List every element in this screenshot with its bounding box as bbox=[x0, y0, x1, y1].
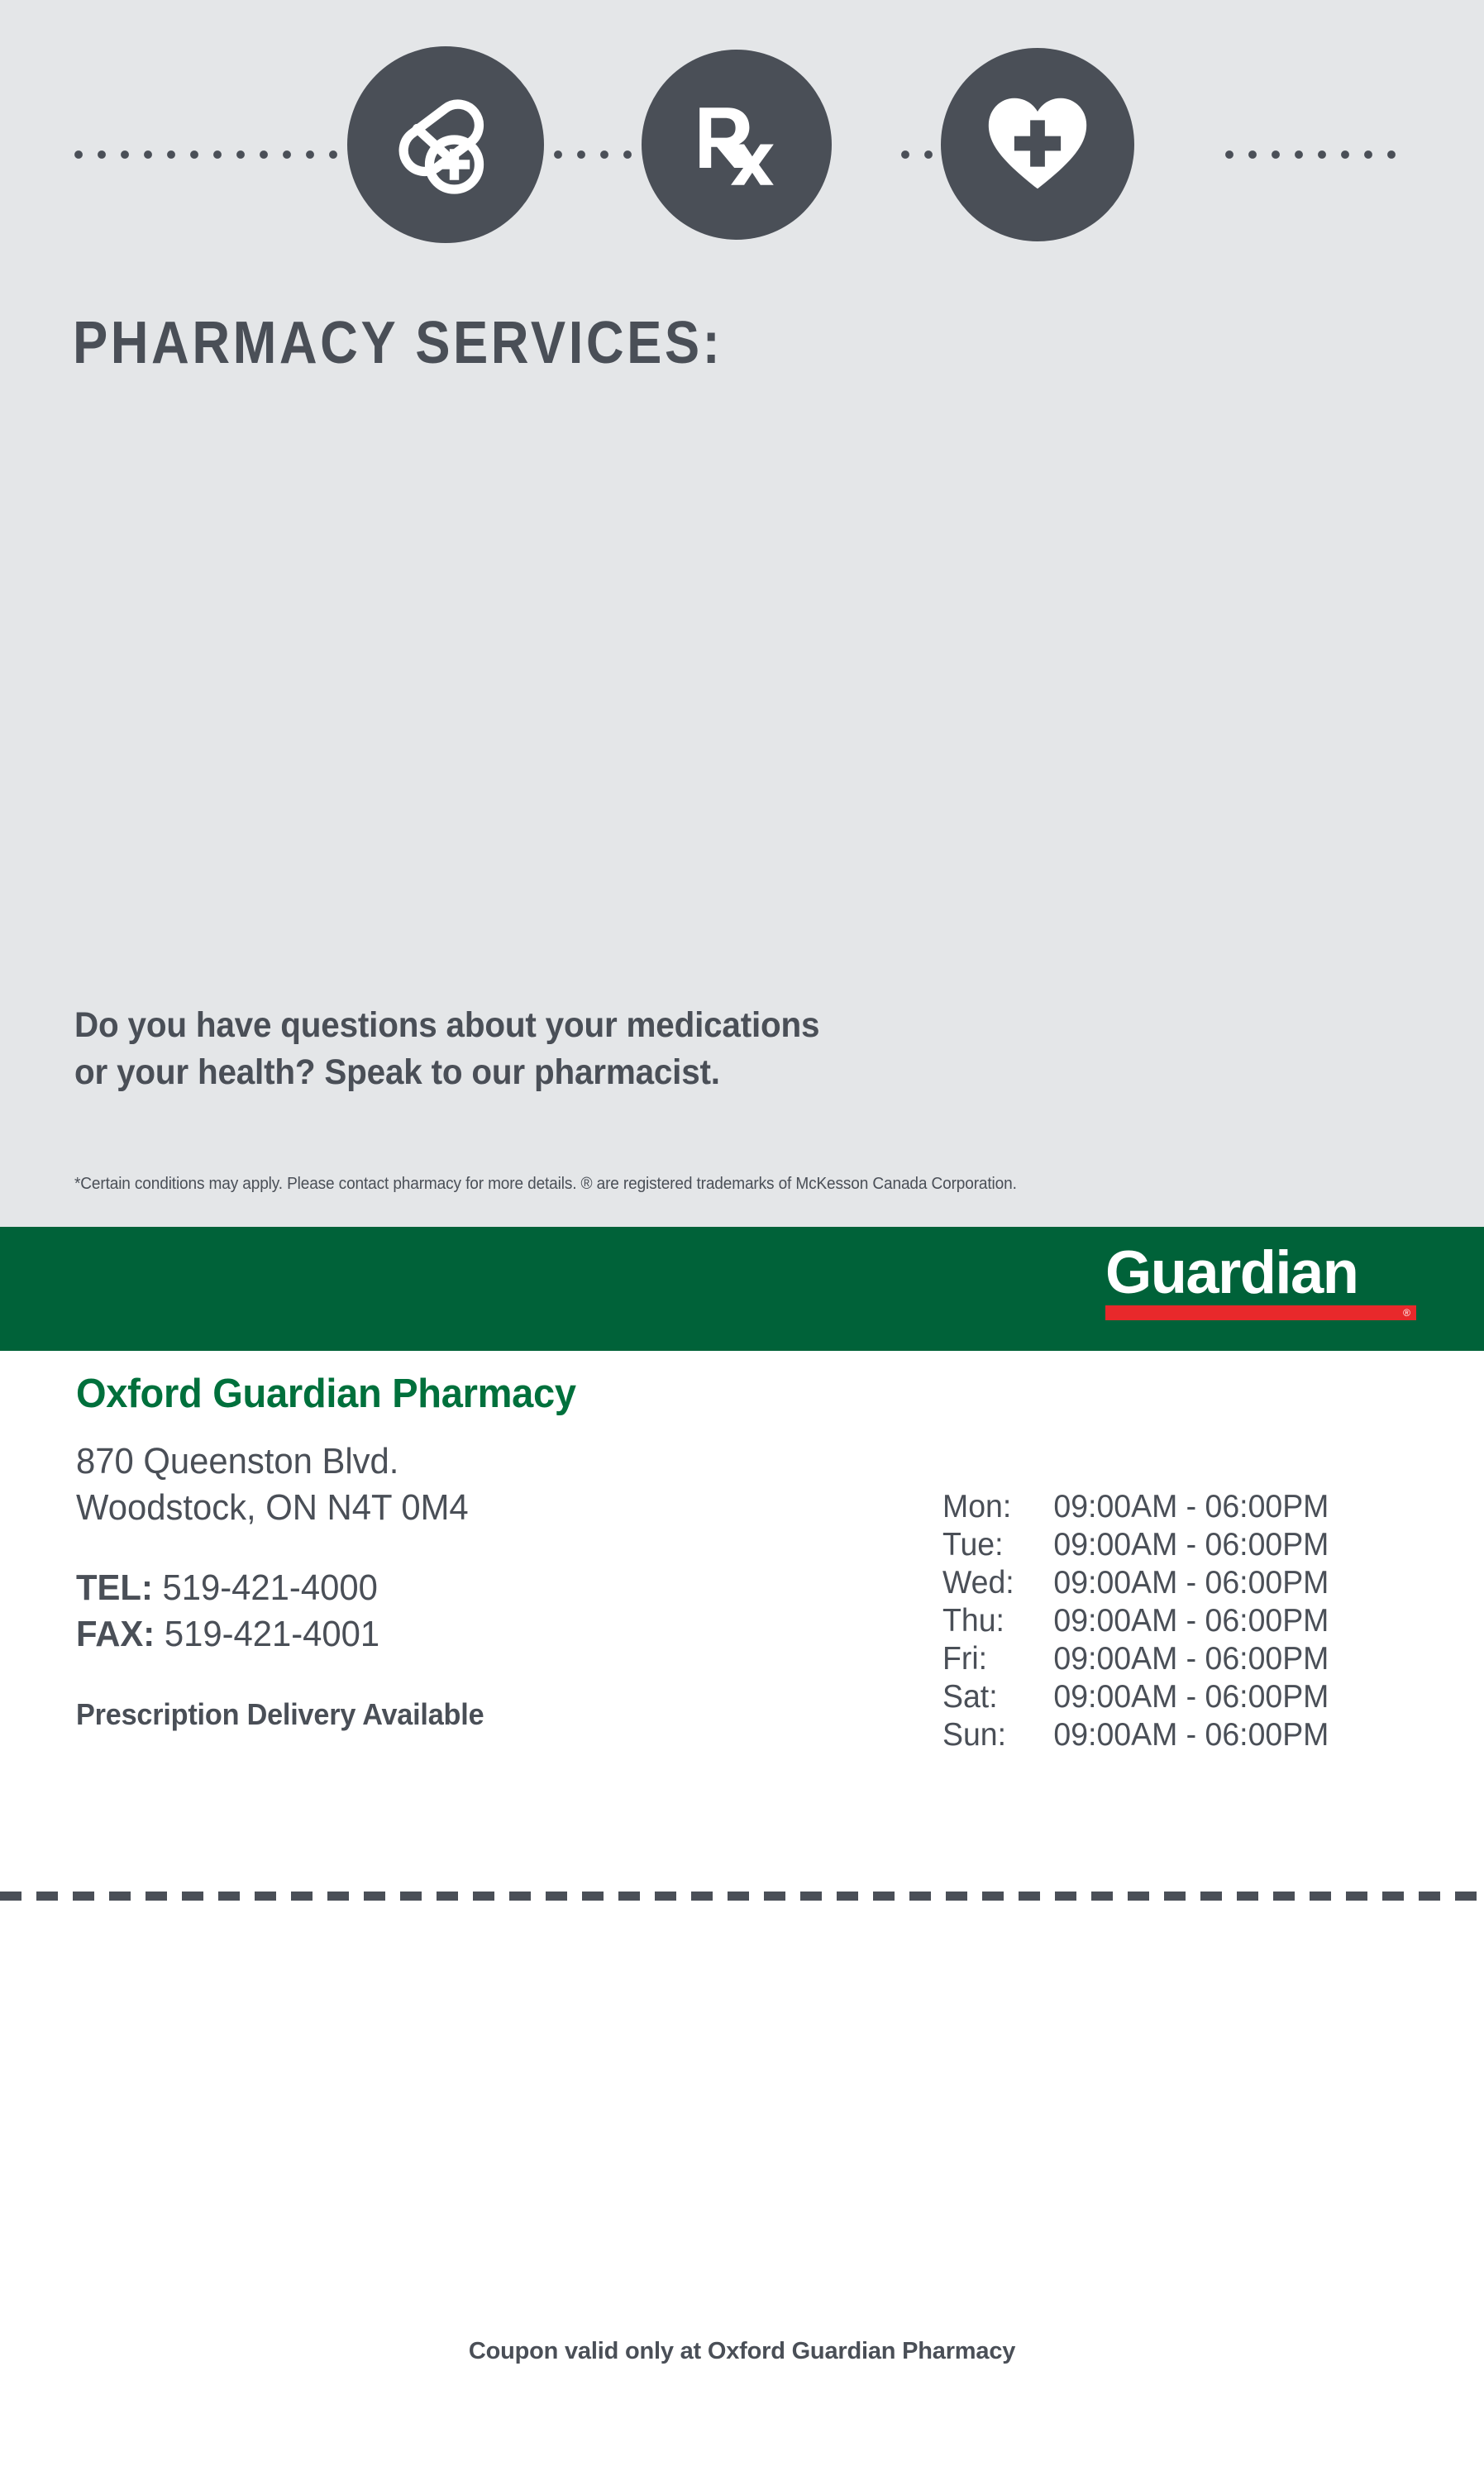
delivery-note: Prescription Delivery Available bbox=[76, 1697, 830, 1732]
store-address: 870 Queenston Blvd. Woodstock, ON N4T 0M… bbox=[76, 1438, 830, 1532]
hours-time: 09:00AM - 06:00PM bbox=[1053, 1564, 1329, 1602]
hours-day: Sat: bbox=[942, 1678, 1053, 1716]
coupon-cut-line bbox=[0, 1892, 1484, 1901]
store-name: Oxford Guardian Pharmacy bbox=[76, 1372, 838, 1417]
guardian-wordmark: Guardian bbox=[1105, 1243, 1424, 1303]
fax-label: FAX: bbox=[76, 1614, 155, 1654]
table-row: Thu: 09:00AM - 06:00PM bbox=[942, 1602, 1434, 1640]
guardian-brand-band: Guardian ® bbox=[0, 1227, 1484, 1351]
telephone-label: TEL: bbox=[76, 1567, 153, 1608]
telephone-row: TEL: 519-421-4000 bbox=[76, 1565, 830, 1611]
page-title: PHARMACY SERVICES: bbox=[73, 309, 723, 377]
guardian-red-bar: ® bbox=[1105, 1305, 1416, 1320]
disclaimer-text: *Certain conditions may apply. Please co… bbox=[74, 1174, 1017, 1194]
pill-capsule-plus-icon bbox=[347, 46, 544, 243]
heart-plus-icon bbox=[941, 48, 1134, 241]
table-row: Sun: 09:00AM - 06:00PM bbox=[942, 1716, 1434, 1754]
hours-day: Thu: bbox=[942, 1602, 1053, 1640]
pharmacy-services-panel: PHARMACY SERVICES: Do you have questions… bbox=[0, 0, 1484, 1227]
table-row: Mon: 09:00AM - 06:00PM bbox=[942, 1488, 1434, 1526]
store-contact: TEL: 519-421-4000 FAX: 519-421-4001 bbox=[76, 1565, 830, 1658]
fax-row: FAX: 519-421-4001 bbox=[76, 1611, 830, 1658]
hours-time: 09:00AM - 06:00PM bbox=[1053, 1488, 1329, 1526]
telephone-value: 519-421-4000 bbox=[163, 1567, 378, 1608]
store-hours-table: Mon: 09:00AM - 06:00PM Tue: 09:00AM - 06… bbox=[942, 1488, 1455, 1754]
table-row: Wed: 09:00AM - 06:00PM bbox=[942, 1564, 1434, 1602]
address-line-2: Woodstock, ON N4T 0M4 bbox=[76, 1485, 830, 1531]
registered-trademark-icon: ® bbox=[1403, 1308, 1410, 1318]
hours-day: Fri: bbox=[942, 1640, 1053, 1678]
hours-day: Wed: bbox=[942, 1564, 1053, 1602]
store-info-block: Oxford Guardian Pharmacy 870 Queenston B… bbox=[76, 1372, 870, 1732]
hours-day: Tue: bbox=[942, 1526, 1053, 1564]
hours-time: 09:00AM - 06:00PM bbox=[1053, 1716, 1329, 1754]
hours-day: Mon: bbox=[942, 1488, 1053, 1526]
services-list bbox=[73, 413, 1412, 976]
guardian-logo: Guardian ® bbox=[1105, 1243, 1428, 1320]
pharmacy-flyer-page: PHARMACY SERVICES: Do you have questions… bbox=[0, 0, 1484, 2476]
hours-time: 09:00AM - 06:00PM bbox=[1053, 1678, 1329, 1716]
pharmacist-question-text: Do you have questions about your medicat… bbox=[74, 1002, 819, 1096]
address-line-1: 870 Queenston Blvd. bbox=[76, 1438, 830, 1485]
coupon-validity-note: Coupon valid only at Oxford Guardian Pha… bbox=[0, 2338, 1484, 2365]
table-row: Fri: 09:00AM - 06:00PM bbox=[942, 1640, 1434, 1678]
dotted-segment-right bbox=[1224, 149, 1405, 160]
rx-prescription-icon bbox=[642, 50, 832, 240]
hours-time: 09:00AM - 06:00PM bbox=[1053, 1602, 1329, 1640]
hours-time: 09:00AM - 06:00PM bbox=[1053, 1526, 1329, 1564]
hours-day: Sun: bbox=[942, 1716, 1053, 1754]
table-row: Tue: 09:00AM - 06:00PM bbox=[942, 1526, 1434, 1564]
table-row: Sat: 09:00AM - 06:00PM bbox=[942, 1678, 1434, 1716]
dotted-segment-left bbox=[73, 149, 351, 160]
fax-value: 519-421-4001 bbox=[165, 1614, 379, 1654]
hours-time: 09:00AM - 06:00PM bbox=[1053, 1640, 1329, 1678]
